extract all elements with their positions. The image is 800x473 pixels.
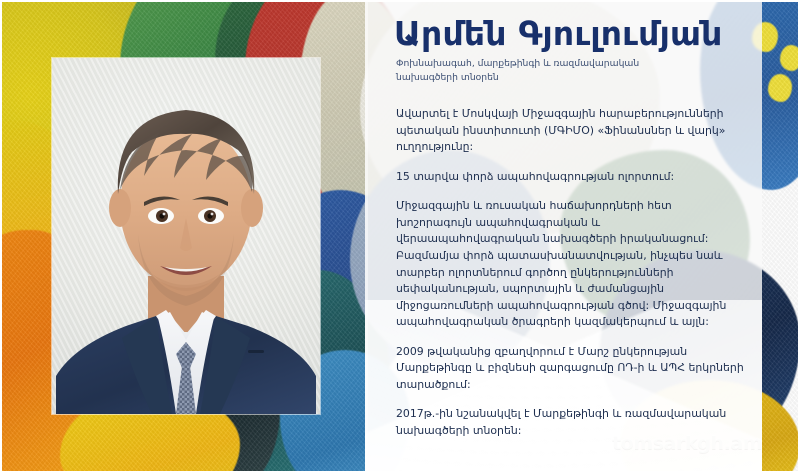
bio-paragraph: Ավարտել է Մոսկվայի Միջազգային հարաբերութ… — [396, 106, 746, 156]
portrait-photo — [52, 58, 320, 414]
paint-dot-yellow-2 — [780, 45, 800, 71]
page-title: Արմեն Գյուլումյան — [394, 17, 754, 52]
job-title: Փոխնախագահ, մարքեթինգի և ռազմավարական նա… — [396, 57, 696, 86]
bio-paragraph: 2017թ.-ին նշանակվել է Մարքեթինգի և ռազմա… — [396, 406, 746, 439]
paint-dot-yellow-3 — [768, 74, 792, 102]
portrait-illustration — [52, 58, 320, 414]
profile-card: Արմեն Գյուլումյան Փոխնախագահ, մարքեթինգի… — [0, 0, 800, 473]
bio-paragraph: 15 տարվա փորձ ապահովագրության ոլորտում: — [396, 169, 746, 186]
bio-paragraph: 2009 թվականից զբաղվորում է Մարշ ընկերութ… — [396, 344, 746, 394]
bio-paragraph: Միջազգային և ռուսական հաճախորդների հետ խ… — [396, 198, 746, 331]
biography-text: Ավարտել է Մոսկվայի Միջազգային հարաբերութ… — [396, 106, 746, 440]
panel-left-edge — [365, 0, 368, 473]
